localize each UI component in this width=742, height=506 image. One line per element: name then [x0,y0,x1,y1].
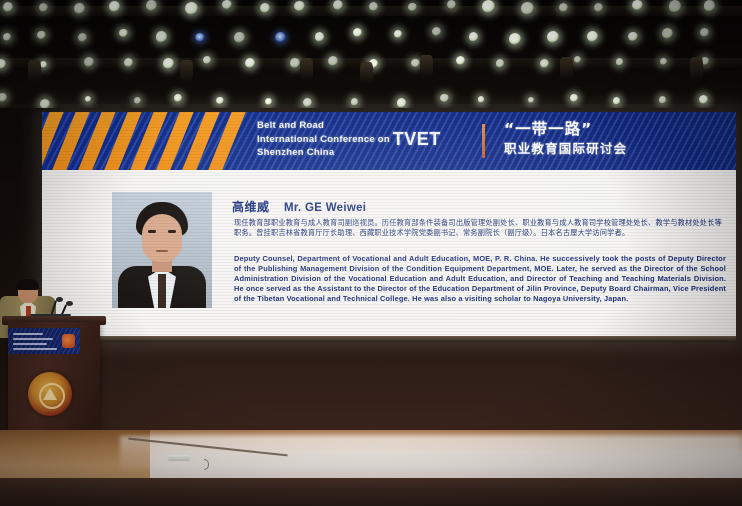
light-fixture-housing [560,57,573,79]
banner-chinese-title: “一带一路” 职业教育国际研讨会 [504,119,627,158]
stage-spotlight-icon [509,33,521,45]
portrait-face [142,214,182,262]
stage-spotlight-icon [174,94,182,102]
podium-sign-textline [13,333,43,335]
banner-diagonal-stripes [42,112,254,170]
stage-spotlight-icon [700,28,709,37]
stage-spotlight-icon [156,31,168,43]
institution-emblem-icon [28,372,72,416]
stage-spotlight-icon [540,59,549,68]
speaker-name-line: 高维威 Mr. GE Weiwei [232,198,366,216]
stage-spotlight-icon [587,31,598,42]
stage-spotlight-icon [333,0,343,10]
speaker-name-english: Mr. GE Weiwei [284,202,366,214]
stage-apron [0,478,742,506]
stage-spotlight-icon [353,28,362,37]
stage-spotlight-icon [85,96,91,102]
stage-spotlight-icon [547,31,559,43]
stage-floor-reflection [120,436,740,470]
stage-spotlight-icon [570,94,578,102]
stage-spotlight-icon [478,96,485,103]
stage-spotlight-icon [275,32,286,43]
stage-spotlight-icon [628,32,637,41]
stage-spotlight-icon [704,0,716,12]
stage-spotlight-icon [222,0,231,9]
speaker-portrait-photo [112,192,212,308]
stage-spotlight-icon [660,58,667,65]
stage-spotlight-icon [447,0,456,9]
banner-divider [482,124,485,158]
speaker-hair [17,279,39,290]
stage-spotlight-icon [432,27,441,36]
light-fixture-housing [180,60,193,82]
stage-spotlight-icon [146,0,157,11]
stage-spotlight-icon [394,30,402,38]
stage-spotlight-icon [315,32,325,42]
stage-spotlight-icon [260,3,270,13]
banner-acronym: TVET [393,129,441,149]
light-fixture-housing [28,60,41,82]
podium-sign-textline [13,343,47,345]
speaker-name-chinese: 高维威 [232,200,270,214]
microphone-head [66,301,73,306]
stage-spotlight-icon [669,0,682,13]
portrait-mouth [156,250,168,252]
stage-spotlight-icon [528,97,534,103]
light-fixture-housing [420,55,433,77]
conference-photo-scene: Belt and Road International Conference o… [0,0,742,506]
podium-sign-textline [13,348,57,350]
light-fixture-housing [690,57,703,79]
stage-spotlight-icon [195,33,205,43]
portrait-eye-right [168,230,176,233]
stage-spotlight-icon [408,3,417,12]
screen-bottom-frame [42,336,736,342]
stage-spotlight-icon [124,58,133,67]
stage-spotlight-icon [616,58,624,66]
stage-spotlight-icon [234,32,245,43]
stage-spotlight-icon [163,58,174,69]
portrait-eye-left [148,230,156,233]
slide-body: 高维威 Mr. GE Weiwei 现任教育部职业教育与成人教育司副巡视员。历任… [42,170,736,340]
stage-spotlight-icon [119,29,127,37]
stage-spotlight-icon [290,58,300,68]
stage-spotlight-icon [521,2,534,15]
stage-spotlight-icon [37,31,46,40]
banner-chinese-sub: 职业教育国际研讨会 [504,140,627,158]
stage-spotlight-icon [496,59,504,67]
podium-sign-logo-icon [62,334,75,348]
podium-sign [8,328,80,354]
stage-spotlight-icon [662,28,673,39]
stage-spotlight-icon [440,94,449,103]
floor-marker [168,455,190,461]
podium-sign-textline [13,338,53,340]
stage-spotlight-icon [659,96,667,104]
speaker-bio-chinese: 现任教育部职业教育与成人教育司副巡视员。历任教育部条件装备司出版管理处副处长、职… [234,218,722,237]
light-fixture-housing [300,58,313,80]
ceiling-truss-area [0,0,742,118]
speaker-bio-english: Deputy Counsel, Department of Vocational… [234,254,726,304]
stage-spotlight-icon [78,33,88,43]
slide-banner: Belt and Road International Conference o… [42,112,736,170]
projection-screen: Belt and Road International Conference o… [42,112,736,340]
stage-spotlight-icon [185,2,198,15]
banner-chinese-main: “一带一路” [504,119,627,140]
stage-spotlight-icon [328,56,338,66]
banner-english-title: Belt and Road International Conference o… [257,120,441,159]
stage-spotlight-icon [351,98,358,105]
stage-spotlight-icon [0,93,7,102]
banner-line-2: International Conference on TVET [257,133,441,147]
stage-spotlight-icon [3,33,11,41]
microphone-head [56,297,63,302]
stage-spotlight-icon [482,0,495,13]
stage-spotlight-icon [469,32,478,41]
stage-spotlight-icon [294,1,305,12]
stage-spotlight-icon [699,95,708,104]
light-fixture-housing [360,62,373,84]
portrait-tie [158,274,166,308]
